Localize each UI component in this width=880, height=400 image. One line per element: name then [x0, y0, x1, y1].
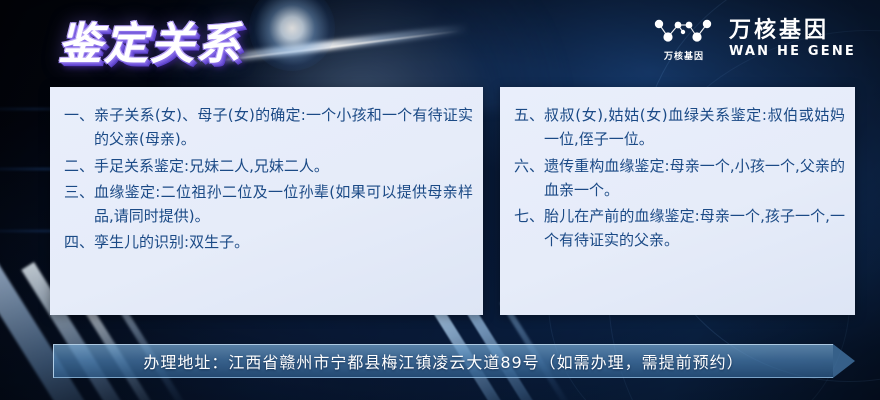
list-item-text: 手足关系鉴定:兄妹二人,兄妹二人。: [94, 154, 473, 178]
list-item-text: 遗传重构血缘鉴定:母亲一个,小孩一个,父亲的血亲一个。: [544, 154, 845, 203]
brand-name-cn: 万核基因: [729, 19, 856, 43]
logo-mark-label: 万核基因: [664, 53, 704, 62]
brand-name-en: WAN HE GENE: [729, 45, 856, 59]
brand-logo: 万核基因 万核基因 WAN HE GENE: [653, 16, 856, 62]
list-item-number: 五、: [514, 103, 544, 127]
list-item: 一、 亲子关系(女)、母子(女)的确定:一个小孩和一个有待证实的父亲(母亲)。: [64, 103, 473, 152]
list-item: 四、 孪生儿的识别:双生子。: [64, 230, 473, 254]
address-banner-body: 办理地址：江西省赣州市宁都县梅江镇凌云大道89号（如需办理，需提前预约）: [53, 344, 833, 378]
list-item-text: 叔叔(女),姑姑(女)血绿关系鉴定:叔伯或姑妈一位,侄子一位。: [544, 103, 845, 152]
list-item-text: 血缘鉴定:二位祖孙二位及一位孙辈(如果可以提供母亲样品,请同时提供)。: [94, 180, 473, 229]
list-item: 五、 叔叔(女),姑姑(女)血绿关系鉴定:叔伯或姑妈一位,侄子一位。: [514, 103, 845, 152]
poster-canvas: 鉴定关系: [0, 0, 880, 400]
list-item-number: 七、: [514, 204, 544, 228]
banner-arrow-icon: [833, 344, 855, 378]
molecule-icon: [653, 16, 715, 50]
header: 鉴定关系: [0, 0, 880, 88]
list-item: 三、 血缘鉴定:二位祖孙二位及一位孙辈(如果可以提供母亲样品,请同时提供)。: [64, 180, 473, 229]
list-item-number: 三、: [64, 180, 94, 204]
list-item-number: 二、: [64, 154, 94, 178]
services-panel-left: 一、 亲子关系(女)、母子(女)的确定:一个小孩和一个有待证实的父亲(母亲)。 …: [50, 87, 483, 315]
list-item: 二、 手足关系鉴定:兄妹二人,兄妹二人。: [64, 154, 473, 178]
services-panel-right: 五、 叔叔(女),姑姑(女)血绿关系鉴定:叔伯或姑妈一位,侄子一位。 六、 遗传…: [500, 87, 855, 315]
list-item: 七、 胎儿在产前的血缘鉴定:母亲一个,孩子一个,一个有待证实的父亲。: [514, 204, 845, 253]
page-title: 鉴定关系: [58, 8, 242, 72]
list-item-number: 六、: [514, 154, 544, 178]
list-item-text: 胎儿在产前的血缘鉴定:母亲一个,孩子一个,一个有待证实的父亲。: [544, 204, 845, 253]
logo-mark: 万核基因: [653, 16, 715, 62]
list-item: 六、 遗传重构血缘鉴定:母亲一个,小孩一个,父亲的血亲一个。: [514, 154, 845, 203]
list-item-text: 亲子关系(女)、母子(女)的确定:一个小孩和一个有待证实的父亲(母亲)。: [94, 103, 473, 152]
logo-wordmark: 万核基因 WAN HE GENE: [729, 19, 856, 59]
address-banner: 办理地址：江西省赣州市宁都县梅江镇凌云大道89号（如需办理，需提前预约）: [53, 344, 855, 378]
list-item-text: 孪生儿的识别:双生子。: [94, 230, 473, 254]
list-item-number: 四、: [64, 230, 94, 254]
address-text: 办理地址：江西省赣州市宁都县梅江镇凌云大道89号（如需办理，需提前预约）: [143, 349, 743, 373]
list-item-number: 一、: [64, 103, 94, 127]
